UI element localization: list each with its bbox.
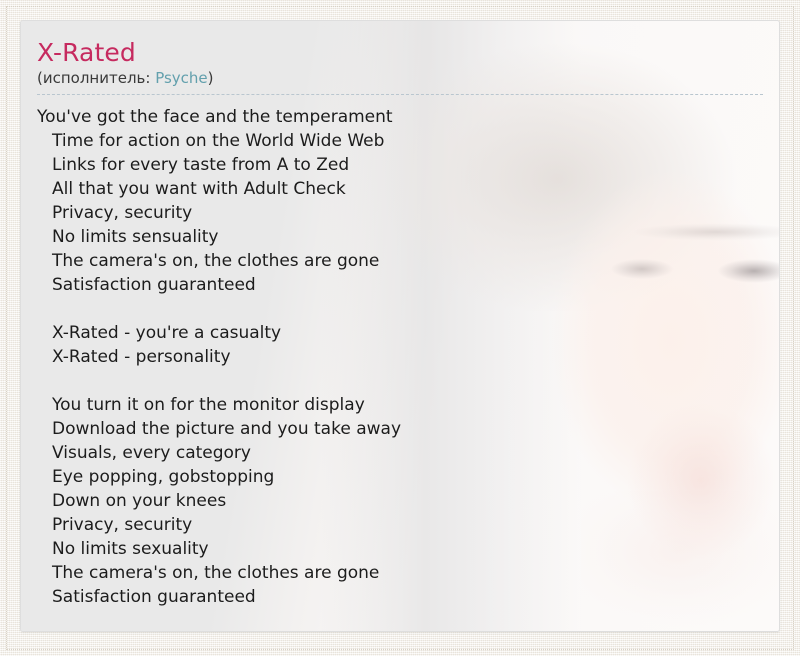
lyric-line: Eye popping, gobstopping [37,465,763,489]
lyric-line: All that you want with Adult Check [37,177,763,201]
artist-link[interactable]: Psyche [155,69,207,87]
lyric-line-blank [37,369,763,393]
lyric-line: Time for action on the World Wide Web [37,129,763,153]
lyric-line: Visuals, every category [37,441,763,465]
lyric-line: Down on your knees [37,489,763,513]
lyric-line: X-Rated - personality [37,345,763,369]
lyric-line: Satisfaction guaranteed [37,585,763,609]
lyric-line: Privacy, security [37,201,763,225]
lyric-line: The camera's on, the clothes are gone [37,561,763,585]
lyric-line: You turn it on for the monitor display [37,393,763,417]
artist-credit-suffix: ) [208,69,214,87]
lyric-line: The camera's on, the clothes are gone [37,249,763,273]
artist-credit-prefix: (исполнитель: [37,69,155,87]
lyrics-text: You've got the face and the temperamentT… [37,105,763,609]
lyric-line: X-Rated - you're a casualty [37,321,763,345]
lyrics-card-content: X-Rated (исполнитель: Psyche) You've got… [21,21,779,609]
lyric-line: No limits sensuality [37,225,763,249]
lyric-line: Links for every taste from A to Zed [37,153,763,177]
lyric-line-blank [37,297,763,321]
song-title: X-Rated [37,39,763,67]
lyric-line: No limits sexuality [37,537,763,561]
lyric-line: Download the picture and you take away [37,417,763,441]
artist-credit: (исполнитель: Psyche) [37,69,763,95]
lyric-line: Satisfaction guaranteed [37,273,763,297]
lyric-line: You've got the face and the temperament [37,105,763,129]
lyric-line: Privacy, security [37,513,763,537]
lyrics-card: X-Rated (исполнитель: Psyche) You've got… [20,20,780,632]
